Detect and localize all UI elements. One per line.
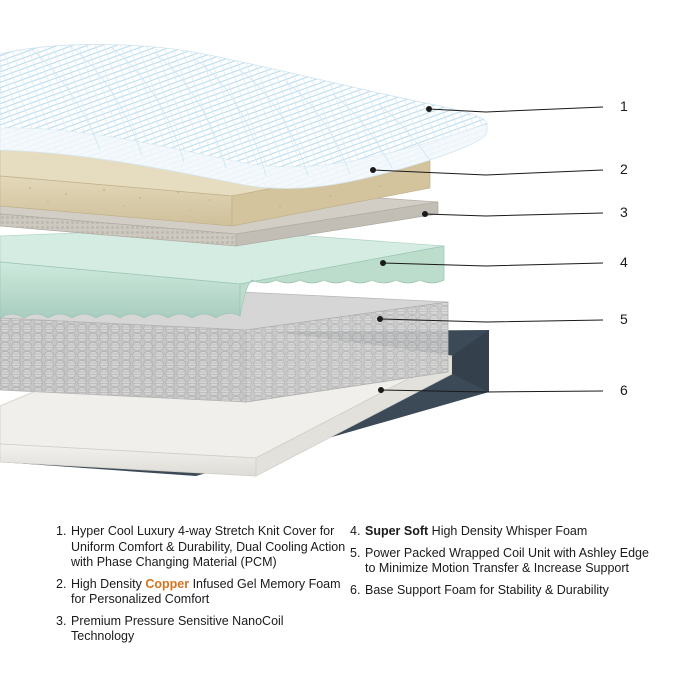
legend-text-1: Hyper Cool Luxury 4-way Stretch Knit Cov… <box>71 524 346 571</box>
callout-number-3: 3 <box>620 205 628 219</box>
mattress-layer-infographic: 1 2 3 4 5 6 1. Hyper Cool Luxury 4-way S… <box>0 0 700 700</box>
list-item: 5. Power Packed Wrapped Coil Unit with A… <box>350 546 650 577</box>
legend-text-6: Base Support Foam for Stability & Durabi… <box>365 583 609 599</box>
list-item: 6. Base Support Foam for Stability & Dur… <box>350 583 650 599</box>
legend-text-5: Power Packed Wrapped Coil Unit with Ashl… <box>365 546 650 577</box>
legend: 1. Hyper Cool Luxury 4-way Stretch Knit … <box>0 524 700 700</box>
copper-keyword: Copper <box>145 577 189 591</box>
legend-index-1: 1. <box>56 524 71 540</box>
list-item: 4. Super Soft High Density Whisper Foam <box>350 524 650 540</box>
list-item: 2. High Density Copper Infused Gel Memor… <box>56 577 346 608</box>
callout-number-4: 4 <box>620 255 628 269</box>
legend-index-4: 4. <box>350 524 365 540</box>
callout-number-2: 2 <box>620 162 628 176</box>
legend-index-6: 6. <box>350 583 365 599</box>
legend-text-4: Super Soft High Density Whisper Foam <box>365 524 587 540</box>
callout-number-5: 5 <box>620 312 628 326</box>
legend-column-left: 1. Hyper Cool Luxury 4-way Stretch Knit … <box>56 524 346 651</box>
legend-index-5: 5. <box>350 546 365 562</box>
callout-number-6: 6 <box>620 383 628 397</box>
legend-text-3: Premium Pressure Sensitive NanoCoil Tech… <box>71 614 346 645</box>
legend-index-3: 3. <box>56 614 71 630</box>
list-item: 3. Premium Pressure Sensitive NanoCoil T… <box>56 614 346 645</box>
callout-number-1: 1 <box>620 99 628 113</box>
legend-text-2: High Density Copper Infused Gel Memory F… <box>71 577 346 608</box>
legend-index-2: 2. <box>56 577 71 593</box>
list-item: 1. Hyper Cool Luxury 4-way Stretch Knit … <box>56 524 346 571</box>
legend-column-right: 4. Super Soft High Density Whisper Foam … <box>350 524 650 604</box>
legend-emphasis-super-soft: Super Soft <box>365 524 428 538</box>
exploded-mattress-diagram: 1 2 3 4 5 6 <box>0 0 700 520</box>
